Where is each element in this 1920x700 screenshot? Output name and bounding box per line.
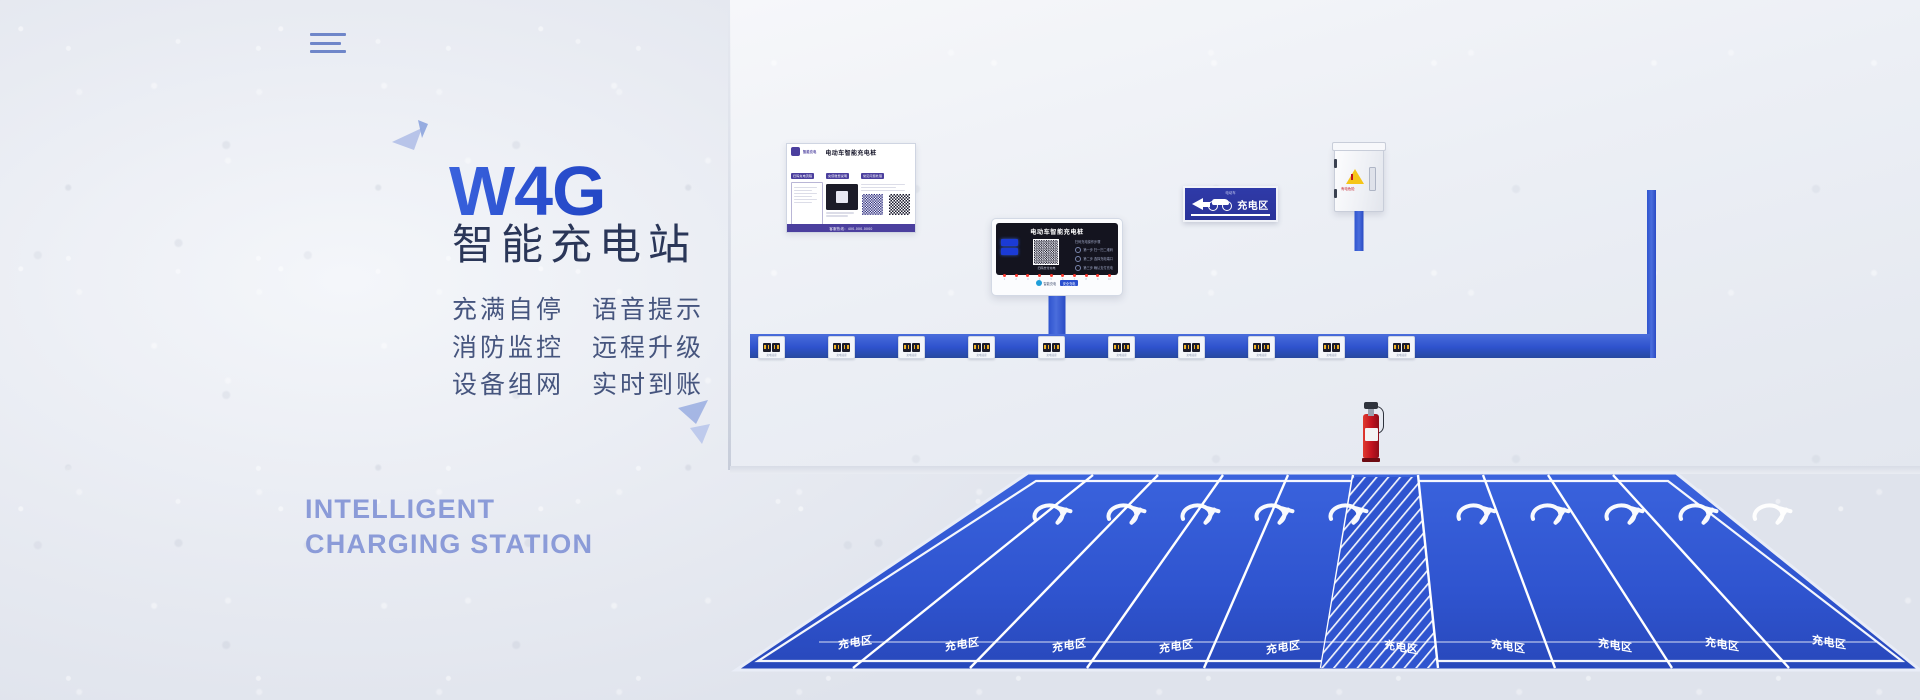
feature-item: 实时到账 bbox=[592, 368, 704, 403]
poster-tag: 扫码充电流程 bbox=[791, 173, 814, 179]
charging-port[interactable]: 7 bbox=[1073, 274, 1076, 281]
socket-label: 充电插座 bbox=[759, 353, 784, 357]
hamburger-menu-icon[interactable] bbox=[310, 33, 346, 53]
poster-tag: 充值缴费说明 bbox=[826, 173, 849, 179]
extinguisher-label bbox=[1365, 428, 1378, 441]
parking-floor: 充电区 充电区 充电区 充电区 充电区 充电区 充电区 充电区 充电区 充电区 bbox=[716, 465, 1920, 700]
scooter-body bbox=[1212, 199, 1229, 205]
socket-label: 充电插座 bbox=[899, 353, 924, 357]
fire-extinguisher bbox=[1361, 400, 1381, 462]
socket-plug-icon bbox=[1113, 343, 1121, 352]
charging-pile-middle: 扫码支付充电 扫码充电操作步骤 第一步 扫一扫二维码 第二步 选择充电端口 bbox=[1001, 239, 1113, 271]
english-line-1: INTELLIGENT bbox=[305, 492, 593, 527]
instruction-heading: 扫码充电操作步骤 bbox=[1075, 239, 1101, 244]
charging-port[interactable]: 10 bbox=[1108, 274, 1111, 281]
step-dot-icon bbox=[1075, 247, 1082, 254]
charging-port[interactable]: 5 bbox=[1050, 274, 1053, 281]
poster-tag: 常见问题处理 bbox=[861, 173, 884, 179]
socket-plug-icon bbox=[1052, 343, 1060, 352]
poster-flow-box bbox=[791, 182, 823, 228]
port-number: 4 bbox=[1039, 278, 1040, 281]
charging-port[interactable]: 4 bbox=[1038, 274, 1041, 281]
poster-line bbox=[794, 187, 817, 189]
feature-item: 远程升级 bbox=[592, 331, 704, 366]
charging-port[interactable]: 1 bbox=[1003, 274, 1006, 281]
electrical-cabinet: 有电危险 bbox=[1334, 146, 1384, 212]
sign-top-mark: 电动车 bbox=[1225, 190, 1235, 195]
cabinet-hinge-top bbox=[1334, 159, 1337, 168]
led-display-1 bbox=[1001, 239, 1018, 246]
direction-sign: 电动车 充电区 bbox=[1183, 186, 1278, 222]
led-display-2 bbox=[1001, 248, 1018, 255]
charging-station-illustration: 电动车智能充电桩 智能充电 扫码充电流程 bbox=[716, 0, 1920, 700]
poster-title: 电动车智能充电桩 bbox=[787, 148, 915, 157]
extinguisher-neck bbox=[1368, 408, 1374, 416]
port-number: 9 bbox=[1097, 278, 1098, 281]
feature-item: 充满自停 bbox=[452, 293, 564, 328]
wall-socket[interactable]: 充电插座 bbox=[1318, 336, 1345, 359]
cabinet-conduit bbox=[1355, 211, 1364, 251]
port-number: 3 bbox=[1027, 278, 1028, 281]
cabinet-warning-text: 有电危险 bbox=[1341, 186, 1355, 191]
poster-columns: 扫码充电流程 充值缴费说明 bbox=[787, 164, 915, 228]
high-voltage-warning-icon bbox=[1346, 169, 1364, 184]
wall-socket[interactable]: 充电插座 bbox=[1248, 336, 1275, 359]
poster-footer-text: 客服热线：400-000-0000 bbox=[829, 226, 872, 231]
cabinet-handle[interactable] bbox=[1369, 167, 1376, 191]
charging-port[interactable]: 3 bbox=[1026, 274, 1029, 281]
socket-plug-icon bbox=[772, 343, 780, 352]
charging-port-indicators: 1 2 3 4 5 6 7 8 9 10 bbox=[1001, 274, 1113, 281]
socket-plug-icon bbox=[842, 343, 850, 352]
page-subtitle: 智能充电站 bbox=[452, 222, 697, 268]
sign-underline bbox=[1191, 214, 1270, 216]
socket-label: 充电插座 bbox=[1179, 353, 1204, 357]
sign-label: 充电区 bbox=[1237, 197, 1269, 212]
wall-poster: 电动车智能充电桩 智能充电 扫码充电流程 bbox=[786, 143, 916, 233]
wall-socket[interactable]: 充电插座 bbox=[898, 336, 925, 359]
socket-plug-icon bbox=[833, 343, 841, 352]
poster-line bbox=[794, 190, 812, 192]
socket-plug-icon bbox=[1262, 343, 1270, 352]
poster-line bbox=[861, 184, 905, 186]
charging-port[interactable]: 6 bbox=[1061, 274, 1064, 281]
socket-plug-icon bbox=[973, 343, 981, 352]
extinguisher-base bbox=[1362, 458, 1380, 462]
poster-line bbox=[794, 199, 817, 201]
wall-socket[interactable]: 充电插座 bbox=[1038, 336, 1065, 359]
menu-bar-3 bbox=[310, 50, 346, 53]
poster-line bbox=[826, 212, 854, 214]
poster-qr-code-wechat bbox=[888, 193, 911, 216]
socket-label: 充电插座 bbox=[1249, 353, 1274, 357]
socket-plug-icon bbox=[903, 343, 911, 352]
charging-pile-qr-code[interactable] bbox=[1033, 239, 1059, 265]
poster-line bbox=[794, 202, 812, 204]
instruction-row: 第一步 扫一扫二维码 bbox=[1075, 247, 1113, 254]
wall-edge bbox=[728, 0, 731, 470]
socket-plug-icon bbox=[1393, 343, 1401, 352]
back-wall bbox=[730, 0, 1920, 470]
feature-item: 语音提示 bbox=[592, 293, 704, 328]
socket-plug-icon bbox=[763, 343, 771, 352]
poster-column-3: 常见问题处理 bbox=[861, 164, 911, 228]
socket-plug-icon bbox=[1043, 343, 1051, 352]
socket-plug-icon bbox=[1253, 343, 1261, 352]
port-number: 2 bbox=[1015, 278, 1016, 281]
conduit-drop bbox=[1647, 190, 1656, 358]
charging-pile-title: 电动车智能充电桩 bbox=[1001, 227, 1113, 236]
instruction-row: 第二步 选择充电端口 bbox=[1075, 256, 1113, 263]
hero-banner: W4G 智能充电站 充满自停 语音提示 消防监控 远程升级 设备组网 实时到账 … bbox=[0, 0, 1920, 700]
brand-text: 智能充电 bbox=[1044, 281, 1057, 286]
port-number: 7 bbox=[1074, 278, 1075, 281]
socket-plug-icon bbox=[1332, 343, 1340, 352]
socket-label: 充电插座 bbox=[1109, 353, 1134, 357]
charging-pile: 电动车智能充电桩 扫码支付充电 扫码充电操作步骤 bbox=[991, 218, 1123, 296]
wall-socket[interactable]: 充电插座 bbox=[1178, 336, 1205, 359]
socket-plug-icon bbox=[1122, 343, 1130, 352]
socket-label: 充电插座 bbox=[1319, 353, 1344, 357]
wall-socket[interactable]: 充电插座 bbox=[1108, 336, 1135, 359]
decor-triangle-bottom bbox=[676, 398, 718, 446]
poster-device-screen bbox=[836, 191, 848, 203]
port-number: 6 bbox=[1062, 278, 1063, 281]
socket-plug-icon bbox=[1183, 343, 1191, 352]
step-dot-icon bbox=[1075, 265, 1082, 272]
poster-device-image bbox=[826, 184, 858, 210]
port-number: 1 bbox=[1004, 278, 1005, 281]
poster-column-1: 扫码充电流程 bbox=[791, 164, 823, 228]
english-tagline: INTELLIGENT CHARGING STATION bbox=[305, 492, 593, 561]
socket-plug-icon bbox=[1402, 343, 1410, 352]
charging-port[interactable]: 9 bbox=[1096, 274, 1099, 281]
socket-plug-icon bbox=[1192, 343, 1200, 352]
brand-tag: 安全充电 bbox=[1060, 280, 1078, 286]
poster-line bbox=[794, 196, 812, 198]
scooter-icon bbox=[1208, 198, 1232, 211]
charging-pile-qr-caption: 扫码支付充电 bbox=[1033, 266, 1059, 270]
port-number: 5 bbox=[1050, 278, 1051, 281]
menu-bar-2 bbox=[310, 42, 341, 45]
feature-list: 充满自停 语音提示 消防监控 远程升级 设备组网 实时到账 bbox=[452, 293, 704, 403]
brand-dot-icon bbox=[1036, 280, 1042, 286]
instruction-text: 第二步 选择充电端口 bbox=[1083, 256, 1113, 261]
charging-pile-displays bbox=[1001, 239, 1018, 255]
poster-line bbox=[794, 193, 817, 195]
english-line-2: CHARGING STATION bbox=[305, 527, 593, 562]
feature-item: 设备组网 bbox=[452, 368, 564, 403]
poster-column-2: 充值缴费说明 bbox=[826, 164, 858, 228]
poster-qr-group bbox=[861, 193, 911, 216]
socket-label: 充电插座 bbox=[1039, 353, 1064, 357]
page-title: W4G bbox=[449, 156, 605, 226]
charging-port[interactable]: 8 bbox=[1085, 274, 1088, 281]
socket-label: 充电插座 bbox=[829, 353, 854, 357]
poster-footer: 客服热线：400-000-0000 bbox=[787, 224, 915, 232]
decor-triangle-top bbox=[392, 120, 434, 162]
cabinet-top-cap bbox=[1332, 142, 1386, 151]
instruction-text: 第一步 扫一扫二维码 bbox=[1083, 247, 1113, 252]
poster-qr-code-pay bbox=[861, 193, 884, 216]
wall-socket[interactable]: 充电插座 bbox=[828, 336, 855, 359]
instruction-row: 第三步 确认支付充电 bbox=[1075, 265, 1113, 272]
socket-label: 充电插座 bbox=[969, 353, 994, 357]
charging-pile-qr-block: 扫码支付充电 bbox=[1033, 239, 1059, 270]
socket-plug-icon bbox=[1323, 343, 1331, 352]
charging-pile-panel: 电动车智能充电桩 扫码支付充电 扫码充电操作步骤 bbox=[996, 223, 1118, 275]
feature-item: 消防监控 bbox=[452, 331, 564, 366]
port-number: 10 bbox=[1108, 278, 1111, 281]
instruction-text: 第三步 确认支付充电 bbox=[1083, 265, 1113, 270]
charging-pile-housing: 电动车智能充电桩 扫码支付充电 扫码充电操作步骤 bbox=[991, 218, 1123, 296]
brand-badge: 智能充电 bbox=[1036, 280, 1056, 286]
poster-line bbox=[861, 187, 896, 189]
socket-plug-icon bbox=[982, 343, 990, 352]
extinguisher-handle bbox=[1364, 402, 1378, 409]
menu-bar-1 bbox=[310, 33, 346, 36]
wall-socket[interactable]: 充电插座 bbox=[968, 336, 995, 359]
socket-plug-icon bbox=[912, 343, 920, 352]
step-dot-icon bbox=[1075, 256, 1082, 263]
cabinet-hinge-bottom bbox=[1334, 189, 1337, 198]
poster-line bbox=[826, 215, 848, 217]
wall-socket[interactable]: 充电插座 bbox=[758, 336, 785, 359]
charging-pile-instructions: 扫码充电操作步骤 第一步 扫一扫二维码 第二步 选择充电端口 bbox=[1075, 239, 1113, 271]
wall-socket[interactable]: 充电插座 bbox=[1388, 336, 1415, 359]
poster-line bbox=[861, 190, 905, 192]
socket-label: 充电插座 bbox=[1389, 353, 1414, 357]
port-number: 8 bbox=[1085, 278, 1086, 281]
charging-port[interactable]: 2 bbox=[1015, 274, 1018, 281]
left-arrow-icon bbox=[1192, 198, 1203, 210]
